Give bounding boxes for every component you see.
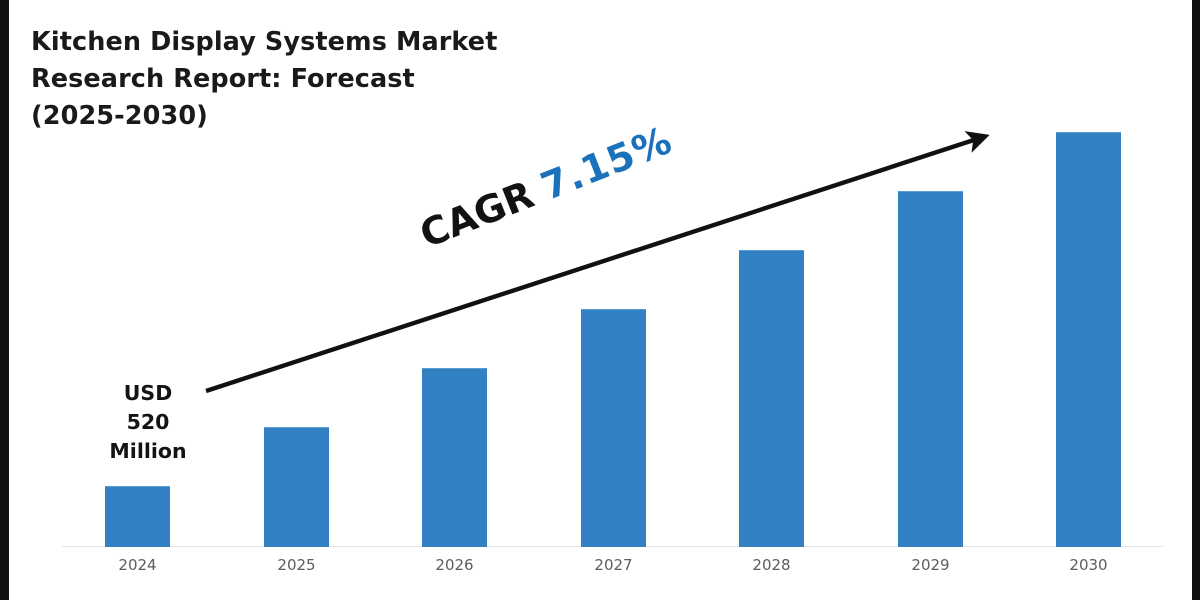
chart-canvas: Kitchen Display Systems Market Research … bbox=[0, 0, 1200, 600]
bar-2027 bbox=[581, 309, 646, 547]
bar-2030 bbox=[1056, 132, 1121, 547]
bar-2024 bbox=[105, 486, 170, 547]
bar-2028 bbox=[739, 250, 804, 547]
value-callout-2024: USD 520 Million bbox=[88, 379, 208, 466]
x-tick-2028: 2028 bbox=[712, 556, 832, 574]
bar-2026 bbox=[422, 368, 487, 547]
bar-2025 bbox=[264, 427, 329, 547]
x-tick-2027: 2027 bbox=[554, 556, 674, 574]
x-tick-2030: 2030 bbox=[1029, 556, 1149, 574]
x-tick-2024: 2024 bbox=[78, 556, 198, 574]
x-tick-2025: 2025 bbox=[237, 556, 357, 574]
x-tick-2029: 2029 bbox=[871, 556, 991, 574]
x-tick-2026: 2026 bbox=[395, 556, 515, 574]
bar-chart-plot-area: 2024202520262027202820292030 bbox=[0, 0, 1200, 600]
bar-2029 bbox=[898, 191, 963, 547]
